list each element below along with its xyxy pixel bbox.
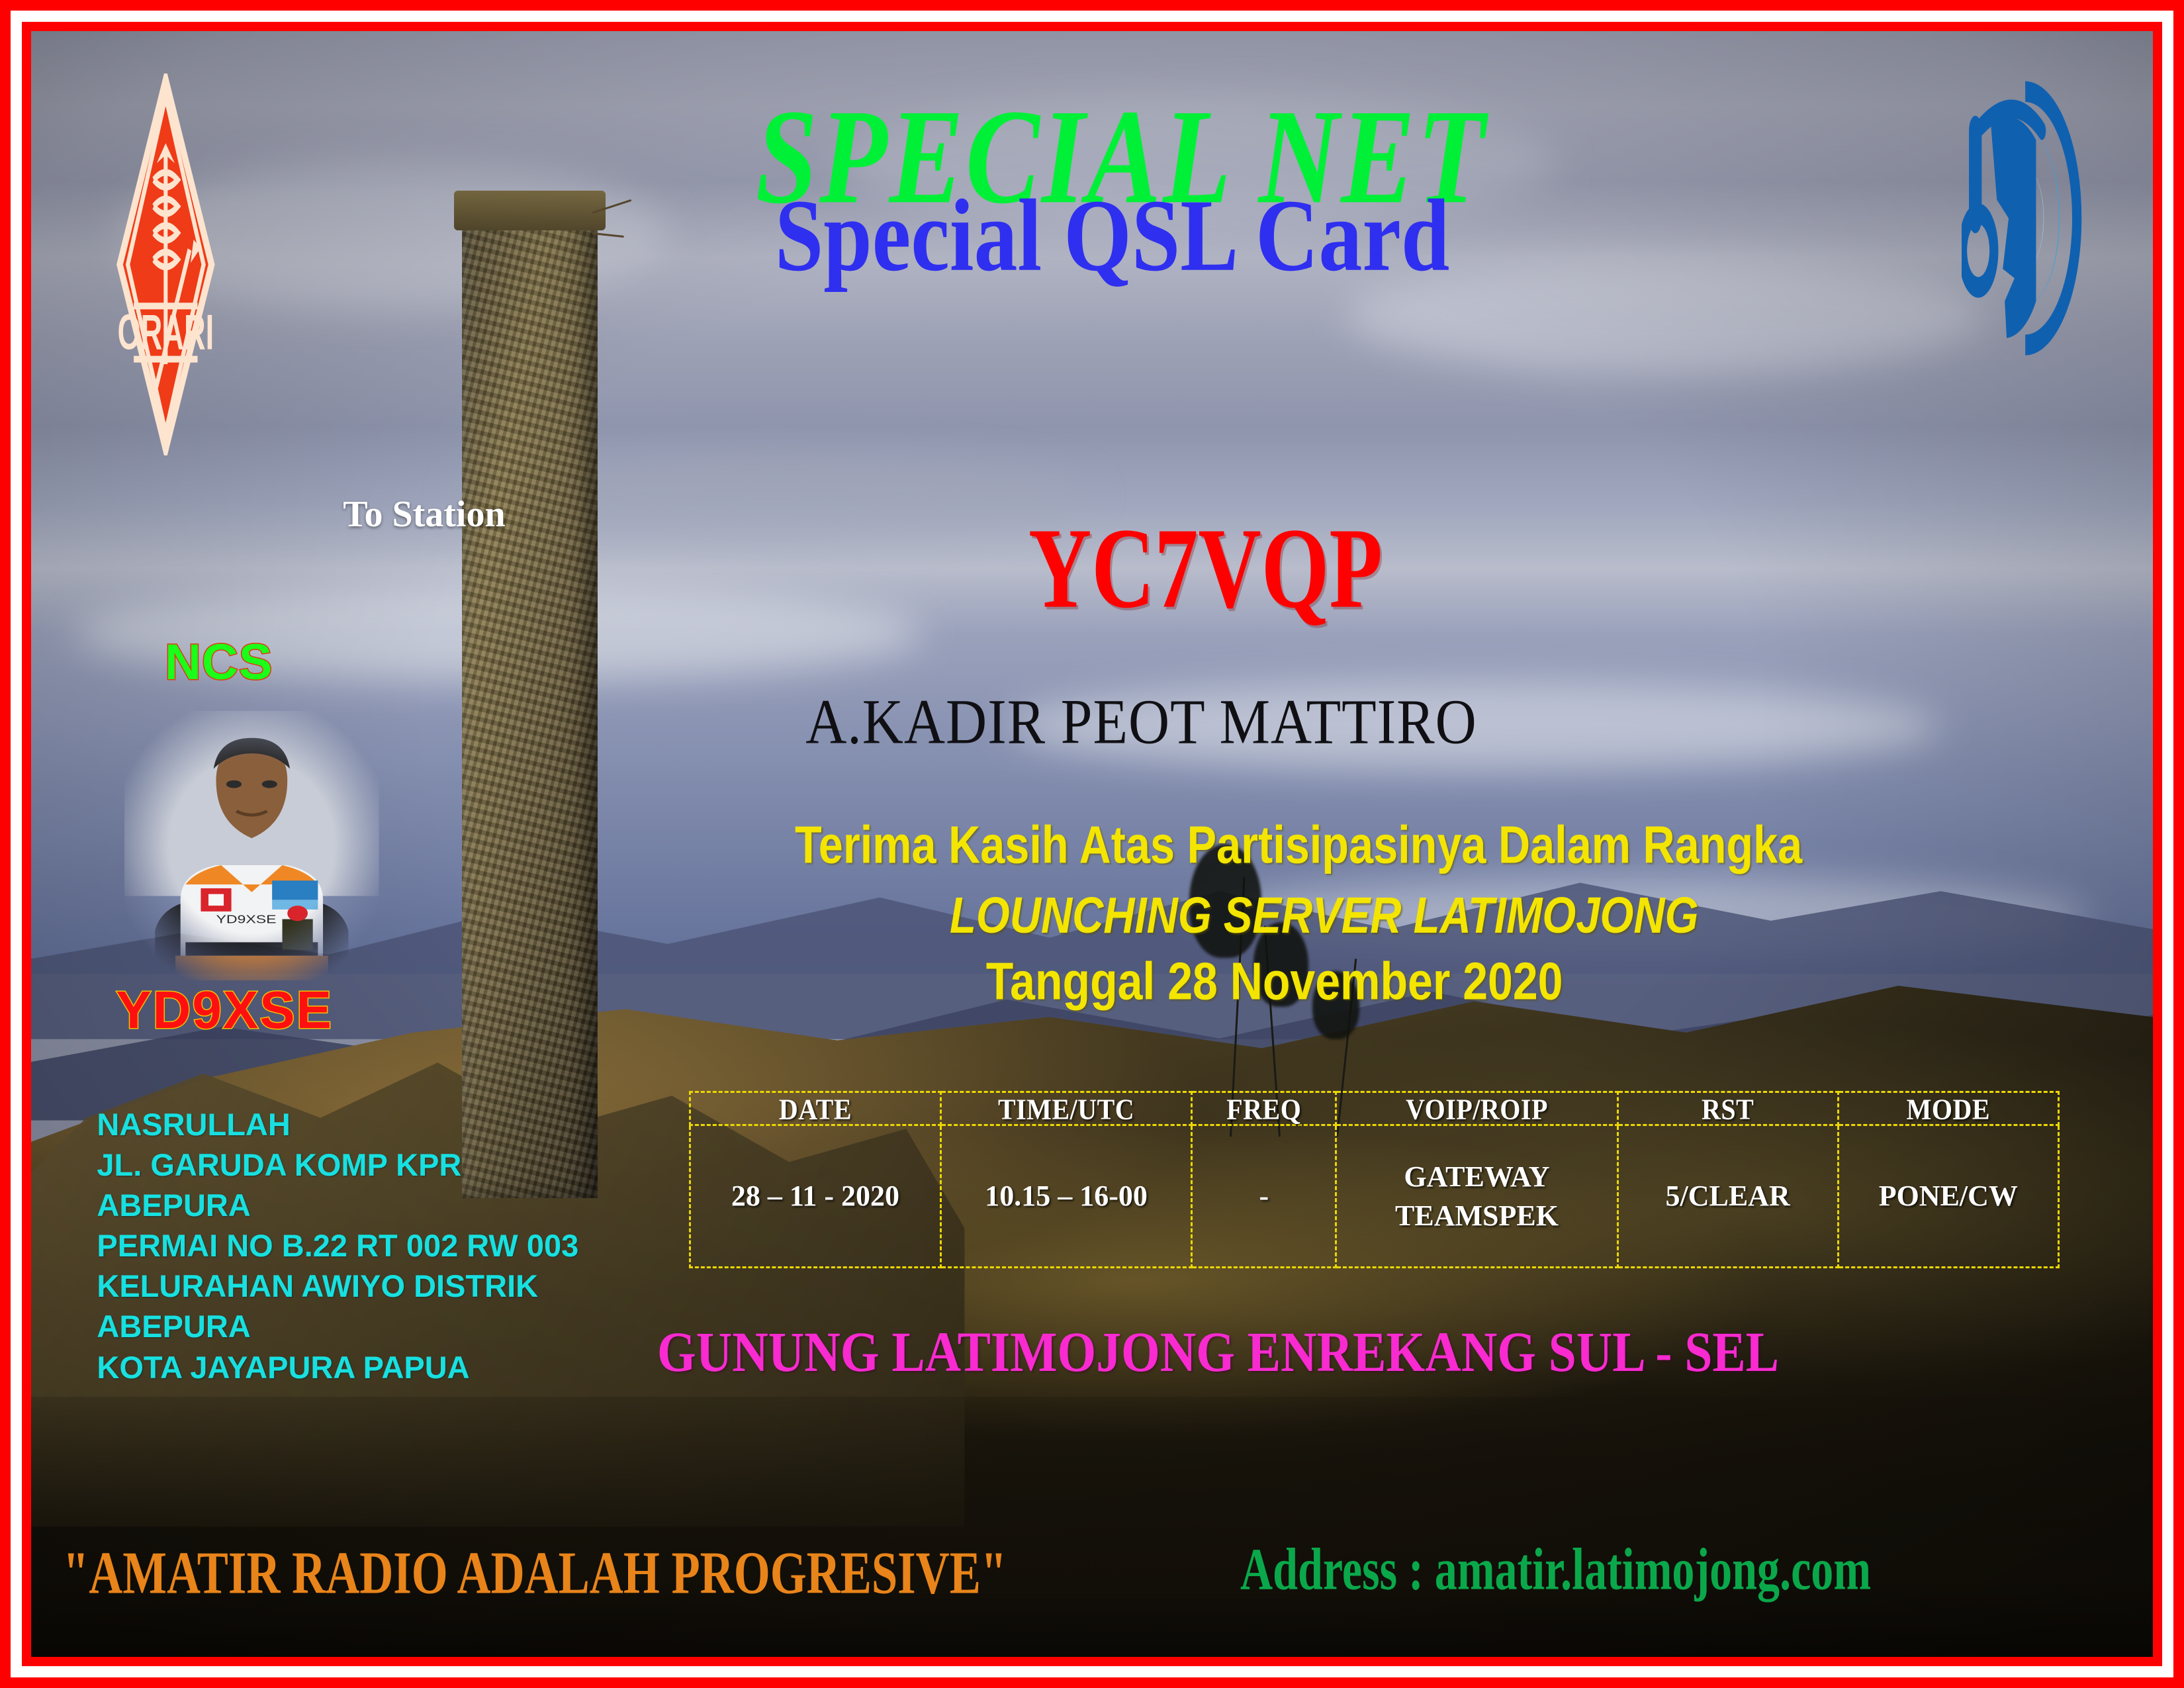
column-header-freq: FREQ xyxy=(1192,1090,1336,1127)
headphone-profile-logo xyxy=(1962,80,2089,357)
qsl-card-frame: ORARI SPECIAL NET xyxy=(0,0,2184,1688)
orari-logo: ORARI xyxy=(116,73,216,455)
card-background-photo: ORARI SPECIAL NET xyxy=(31,31,2153,1657)
table-row: 28 – 11 - 2020 10.15 – 16-00 - GATEWAY T… xyxy=(690,1125,2058,1268)
ncs-label: NCS xyxy=(165,637,273,688)
cell-time: 10.15 – 16-00 xyxy=(941,1125,1192,1268)
ncs-photo-badge-text: YD9XSE xyxy=(216,913,277,926)
column-header-time: TIME/UTC xyxy=(941,1090,1192,1127)
orari-logo-text: ORARI xyxy=(118,305,214,361)
location-line: GUNUNG LATIMOJONG ENREKANG SUL - SEL xyxy=(657,1324,1779,1381)
website-address: Address : amatir.latimojong.com xyxy=(1240,1540,1871,1599)
table-header-row: DATE TIME/UTC FREQ VOIP/ROIP RST MODE xyxy=(690,1092,2058,1125)
address-line: ABEPURA xyxy=(97,1306,578,1346)
ncs-operator-photo: YD9XSE xyxy=(124,711,379,981)
foreground-shadow xyxy=(31,1397,2153,1657)
stone-pillar-monument xyxy=(462,207,598,1198)
postal-address-block: NASRULLAH JL. GARUDA KOMP KPR ABEPURA PE… xyxy=(97,1104,578,1387)
event-date: Tanggal 28 November 2020 xyxy=(986,955,1563,1008)
motto-text: "AMATIR RADIO ADALAH PROGRESIVE" xyxy=(63,1543,1007,1603)
address-line: KELURAHAN AWIYO DISTRIK xyxy=(97,1266,578,1306)
cell-freq: - xyxy=(1192,1125,1336,1268)
address-line: KOTA JAYAPURA PAPUA xyxy=(97,1347,578,1387)
column-header-rst: RST xyxy=(1617,1090,1838,1127)
page-subtitle-qsl-card: Special QSL Card xyxy=(775,184,1450,287)
column-header-date: DATE xyxy=(690,1090,940,1127)
frame-red-inner: ORARI SPECIAL NET xyxy=(22,22,2162,1666)
cell-mode: PONE/CW xyxy=(1838,1125,2058,1268)
address-line: PERMAI NO B.22 RT 002 RW 003 xyxy=(97,1225,578,1266)
address-line: JL. GARUDA KOMP KPR xyxy=(97,1145,578,1185)
recipient-operator-name: A.KADIR PEOT MATTIRO xyxy=(805,690,1477,753)
recipient-callsign: YC7VQP xyxy=(1028,511,1383,626)
pillar-cap xyxy=(454,191,606,230)
ncs-callsign: YD9XSE xyxy=(116,984,333,1037)
cell-voip-roip: GATEWAY TEAMSPEK xyxy=(1336,1125,1617,1268)
cell-rst: 5/CLEAR xyxy=(1617,1125,1838,1268)
column-header-voip-roip: VOIP/ROIP xyxy=(1336,1090,1617,1127)
address-line: NASRULLAH xyxy=(97,1104,578,1145)
qso-data-table: DATE TIME/UTC FREQ VOIP/ROIP RST MODE 28… xyxy=(689,1091,2060,1268)
to-station-label: To Station xyxy=(343,496,505,533)
event-title: LOUNCHING SERVER LATIMOJONG xyxy=(950,890,1698,941)
frame-white-gap: ORARI SPECIAL NET xyxy=(11,11,2173,1677)
cell-date: 28 – 11 - 2020 xyxy=(690,1125,940,1268)
cell-voip-line2: TEAMSPEK xyxy=(1340,1196,1614,1235)
thanks-message: Terima Kasih Atas Partisipasinya Dalam R… xyxy=(795,818,1802,871)
column-header-mode: MODE xyxy=(1838,1090,2058,1127)
address-line: ABEPURA xyxy=(97,1185,578,1225)
cell-voip-line1: GATEWAY xyxy=(1340,1157,1614,1196)
